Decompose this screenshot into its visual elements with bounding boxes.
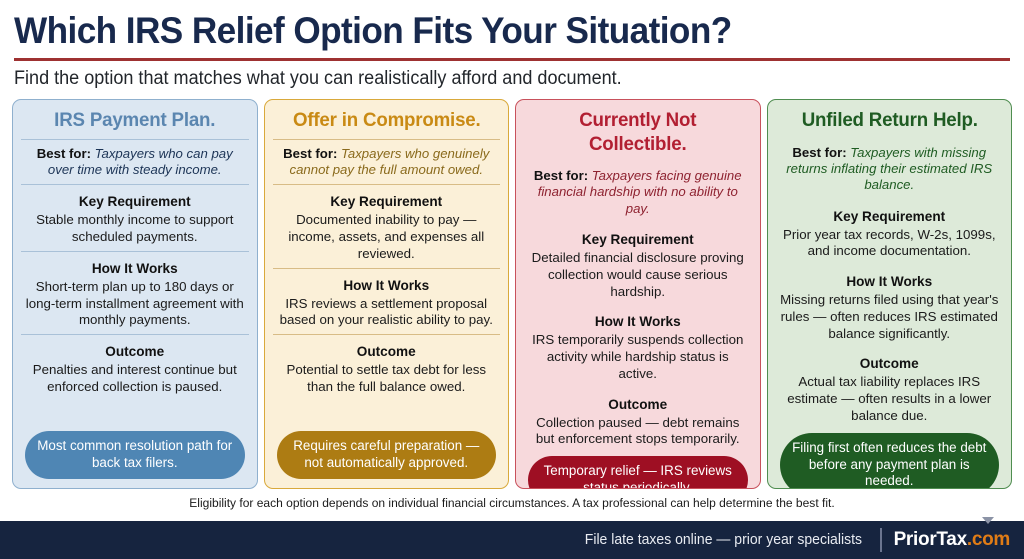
- best-for-label: Best for:: [792, 145, 846, 160]
- card-callout-pill: Requires careful preparation — not autom…: [277, 431, 497, 479]
- option-cards-row: IRS Payment Plan. Best for: Taxpayers wh…: [0, 91, 1024, 489]
- triangle-up-icon: [982, 517, 994, 524]
- block-body: Prior year tax records, W-2s, 1099s, and…: [778, 227, 1002, 261]
- block-heading: Outcome: [526, 397, 750, 414]
- best-for: Best for: Taxpayers with missing returns…: [776, 144, 1004, 200]
- card-divider: [273, 184, 501, 185]
- best-for: Best for: Taxpayers facing genuine finan…: [524, 167, 752, 223]
- card-title: IRS Payment Plan.: [26, 107, 244, 138]
- card-currently-not-collectible[interactable]: Currently Not Collectible. Best for: Tax…: [515, 99, 761, 489]
- page-subtitle: Find the option that matches what you ca…: [14, 67, 960, 91]
- block-body: Documented inability to pay — income, as…: [275, 212, 499, 262]
- brand-name: PriorTax: [894, 529, 967, 550]
- block-heading: Key Requirement: [23, 194, 247, 211]
- card-callout-pill: Temporary relief — IRS reviews status pe…: [528, 456, 748, 489]
- card-title: Unfiled Return Help.: [780, 107, 998, 138]
- block-how-it-works: How It Works Short-term plan up to 180 d…: [21, 257, 249, 334]
- card-irs-payment-plan[interactable]: IRS Payment Plan. Best for: Taxpayers wh…: [12, 99, 258, 489]
- block-key-requirement: Key Requirement Stable monthly income to…: [21, 190, 249, 250]
- block-heading: How It Works: [23, 261, 247, 278]
- block-body: Actual tax liability replaces IRS estima…: [778, 374, 1002, 424]
- block-key-requirement: Key Requirement Detailed financial discl…: [524, 228, 752, 305]
- brand-tld: .com: [967, 529, 1010, 550]
- footer-divider: [880, 528, 882, 552]
- card-unfiled-return-help[interactable]: Unfiled Return Help. Best for: Taxpayers…: [767, 99, 1013, 489]
- title-divider: [14, 58, 1010, 61]
- card-spacer: [21, 401, 249, 429]
- block-heading: Outcome: [275, 344, 499, 361]
- block-heading: Key Requirement: [275, 194, 499, 211]
- block-heading: Key Requirement: [526, 232, 750, 249]
- block-heading: Outcome: [23, 344, 247, 361]
- block-body: IRS temporarily suspends collection acti…: [526, 332, 750, 382]
- footer-bar: File late taxes online — prior year spec…: [0, 521, 1024, 559]
- footer-tagline: File late taxes online — prior year spec…: [585, 532, 862, 548]
- best-for: Best for: Taxpayers who genuinely cannot…: [273, 145, 501, 185]
- block-how-it-works: How It Works IRS reviews a settlement pr…: [273, 274, 501, 334]
- card-spacer: [273, 401, 501, 429]
- block-heading: Outcome: [778, 356, 1002, 373]
- card-title: Currently Not Collectible.: [529, 107, 747, 162]
- block-body: Collection paused — debt remains but enf…: [526, 415, 750, 449]
- card-divider: [21, 139, 249, 140]
- block-key-requirement: Key Requirement Prior year tax records, …: [776, 205, 1004, 265]
- card-callout-pill: Filing first often reduces the debt befo…: [780, 433, 1000, 490]
- card-offer-in-compromise[interactable]: Offer in Compromise. Best for: Taxpayers…: [264, 99, 510, 489]
- block-body: Missing returns filed using that year's …: [778, 292, 1002, 342]
- card-divider: [21, 184, 249, 185]
- block-how-it-works: How It Works Missing returns filed using…: [776, 270, 1004, 347]
- card-callout-pill: Most common resolution path for back tax…: [25, 431, 245, 479]
- best-for-label: Best for:: [283, 146, 337, 161]
- block-heading: Key Requirement: [778, 209, 1002, 226]
- block-heading: How It Works: [778, 274, 1002, 291]
- block-outcome: Outcome Collection paused — debt remains…: [524, 393, 752, 453]
- card-divider: [21, 251, 249, 252]
- header: Which IRS Relief Option Fits Your Situat…: [0, 0, 1024, 91]
- page-title: Which IRS Relief Option Fits Your Situat…: [14, 10, 960, 51]
- block-outcome: Outcome Penalties and interest continue …: [21, 340, 249, 400]
- card-title: Offer in Compromise.: [277, 107, 495, 138]
- block-outcome: Outcome Actual tax liability replaces IR…: [776, 352, 1004, 429]
- block-body: Detailed financial disclosure proving co…: [526, 250, 750, 300]
- card-divider: [273, 334, 501, 335]
- card-divider: [273, 268, 501, 269]
- infographic-page: Which IRS Relief Option Fits Your Situat…: [0, 0, 1024, 559]
- block-how-it-works: How It Works IRS temporarily suspends co…: [524, 310, 752, 387]
- card-divider: [273, 139, 501, 140]
- best-for-label: Best for:: [37, 146, 91, 161]
- card-divider: [21, 334, 249, 335]
- block-body: Penalties and interest continue but enfo…: [23, 362, 247, 396]
- best-for: Best for: Taxpayers who can pay over tim…: [21, 145, 249, 185]
- brand-logo[interactable]: PriorTax.com: [894, 529, 1010, 551]
- block-key-requirement: Key Requirement Documented inability to …: [273, 190, 501, 267]
- block-body: IRS reviews a settlement proposal based …: [275, 296, 499, 330]
- block-heading: How It Works: [526, 314, 750, 331]
- block-body: Short-term plan up to 180 days or long-t…: [23, 279, 247, 329]
- block-outcome: Outcome Potential to settle tax debt for…: [273, 340, 501, 400]
- block-body: Stable monthly income to support schedul…: [23, 212, 247, 246]
- disclaimer-text: Eligibility for each option depends on i…: [15, 489, 1008, 510]
- best-for-label: Best for:: [534, 168, 588, 183]
- block-heading: How It Works: [275, 278, 499, 295]
- block-body: Potential to settle tax debt for less th…: [275, 362, 499, 396]
